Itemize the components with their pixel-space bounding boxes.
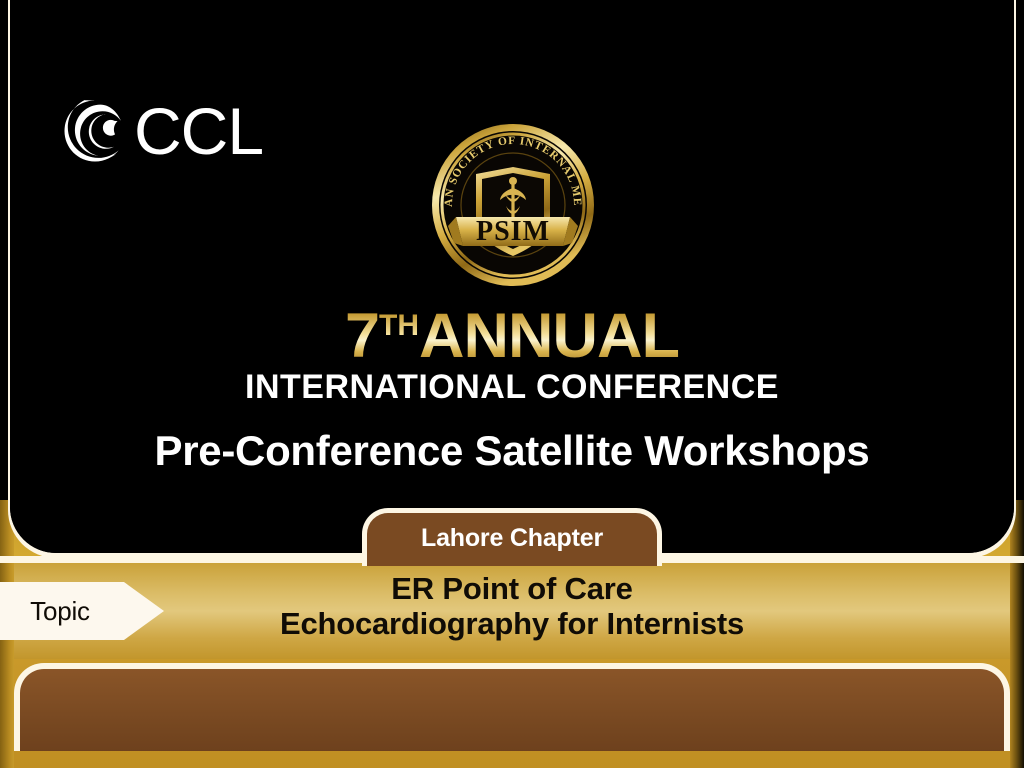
- conference-headline: INTERNATIONAL CONFERENCE: [0, 370, 1024, 404]
- chapter-tab: Lahore Chapter: [362, 508, 662, 566]
- workshops-subtitle: Pre-Conference Satellite Workshops: [0, 430, 1024, 472]
- conference-poster: CCL: [0, 0, 1024, 768]
- svg-text:PSIM: PSIM: [476, 216, 550, 247]
- psim-crest-icon: PAKISTAN SOCIETY OF INTERNAL MEDICINE PS…: [430, 122, 596, 288]
- annual-word: ANNUAL: [419, 301, 679, 371]
- ccl-logo: CCL: [62, 98, 263, 164]
- annual-headline: 7THANNUAL: [345, 305, 679, 368]
- headline-block: 7THANNUAL INTERNATIONAL CONFERENCE Pre-C…: [0, 305, 1024, 472]
- topic-title-line-1: ER Point of Care: [0, 572, 1024, 607]
- ordinal-number: 7: [345, 301, 379, 371]
- ccl-wordmark: CCL: [134, 98, 263, 164]
- chapter-tab-label: Lahore Chapter: [421, 526, 603, 553]
- ordinal-suffix: TH: [379, 309, 419, 342]
- topic-tag-label: Topic: [30, 598, 90, 624]
- ccl-swirl-icon: [62, 98, 128, 164]
- bottom-brown-panel: [14, 663, 1010, 751]
